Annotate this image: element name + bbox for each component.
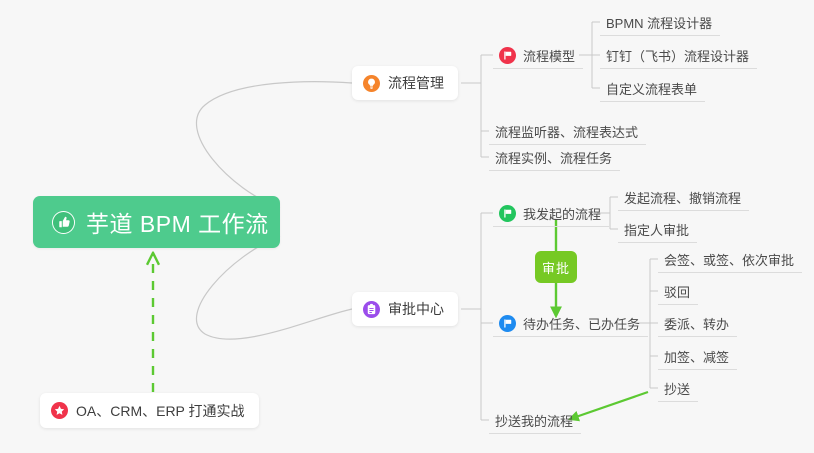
branch-label: 审批中心 (388, 299, 444, 319)
leaf-node-countersign[interactable]: 会签、或签、依次审批 (658, 246, 802, 273)
leaf-node-listener[interactable]: 流程监听器、流程表达式 (489, 118, 646, 145)
leaf-node-bpmn-designer[interactable]: BPMN 流程设计器 (600, 9, 720, 36)
leaf-node-my-initiated[interactable]: 我发起的流程 (493, 200, 609, 227)
leaf-label: 抄送我的流程 (495, 411, 573, 430)
leaf-label: 驳回 (664, 282, 690, 301)
highlight-label: 审批 (542, 258, 570, 277)
leaf-node-start-cancel[interactable]: 发起流程、撤销流程 (618, 184, 749, 211)
leaf-node-cc-to-me[interactable]: 抄送我的流程 (489, 407, 581, 434)
clipboard-icon (363, 301, 380, 318)
annotation-arrow-cc-to-ccme (570, 392, 648, 419)
edge-root-to-approval-center (196, 236, 352, 339)
root-label: 芋道 BPM 工作流 (86, 205, 269, 239)
leaf-node-reject[interactable]: 驳回 (658, 278, 698, 305)
leaf-label: 会签、或签、依次审批 (664, 250, 794, 269)
leaf-node-delegate-transfer[interactable]: 委派、转办 (658, 310, 737, 337)
leaf-label: 加签、减签 (664, 347, 729, 366)
leaf-label: 待办任务、已办任务 (523, 314, 640, 333)
leaf-node-todo-done[interactable]: 待办任务、已办任务 (493, 310, 648, 337)
leaf-label: 流程监听器、流程表达式 (495, 122, 638, 141)
leaf-node-add-remove-sign[interactable]: 加签、减签 (658, 343, 737, 370)
leaf-node-process-model[interactable]: 流程模型 (493, 42, 583, 69)
leaf-label: 发起流程、撤销流程 (624, 188, 741, 207)
branch-node-process-management[interactable]: 流程管理 (352, 66, 458, 100)
leaf-label: 我发起的流程 (523, 204, 601, 223)
leaf-label: 委派、转办 (664, 314, 729, 333)
branch-label: 流程管理 (388, 73, 444, 93)
leaf-label: 流程实例、流程任务 (495, 148, 612, 167)
branch-node-approval-center[interactable]: 审批中心 (352, 292, 458, 326)
leaf-node-assigned-approval[interactable]: 指定人审批 (618, 216, 697, 243)
leaf-label: BPMN 流程设计器 (606, 13, 712, 32)
flag-icon (499, 315, 516, 332)
flag-icon (499, 47, 516, 64)
leaf-label: 流程模型 (523, 46, 575, 65)
root-node[interactable]: 芋道 BPM 工作流 (33, 196, 280, 248)
leaf-label: 指定人审批 (624, 220, 689, 239)
leaf-node-instance[interactable]: 流程实例、流程任务 (489, 144, 620, 171)
leaf-label: 钉钉（飞书）流程设计器 (606, 46, 749, 65)
leaf-node-cc[interactable]: 抄送 (658, 375, 698, 402)
leaf-node-custom-form[interactable]: 自定义流程表单 (600, 75, 705, 102)
callout-node-integration[interactable]: OA、CRM、ERP 打通实战 (40, 393, 259, 428)
highlight-node-approval[interactable]: 审批 (535, 251, 577, 283)
lightbulb-icon (363, 75, 380, 92)
thumbs-up-icon (52, 211, 75, 234)
star-icon (51, 402, 68, 419)
mindmap-canvas: 芋道 BPM 工作流 流程管理 审批中心 (0, 0, 814, 453)
callout-label: OA、CRM、ERP 打通实战 (76, 401, 245, 421)
leaf-label: 自定义流程表单 (606, 79, 697, 98)
edge-root-to-process-management (196, 82, 352, 208)
leaf-node-dingtalk-designer[interactable]: 钉钉（飞书）流程设计器 (600, 42, 757, 69)
flag-icon (499, 205, 516, 222)
leaf-label: 抄送 (664, 379, 690, 398)
